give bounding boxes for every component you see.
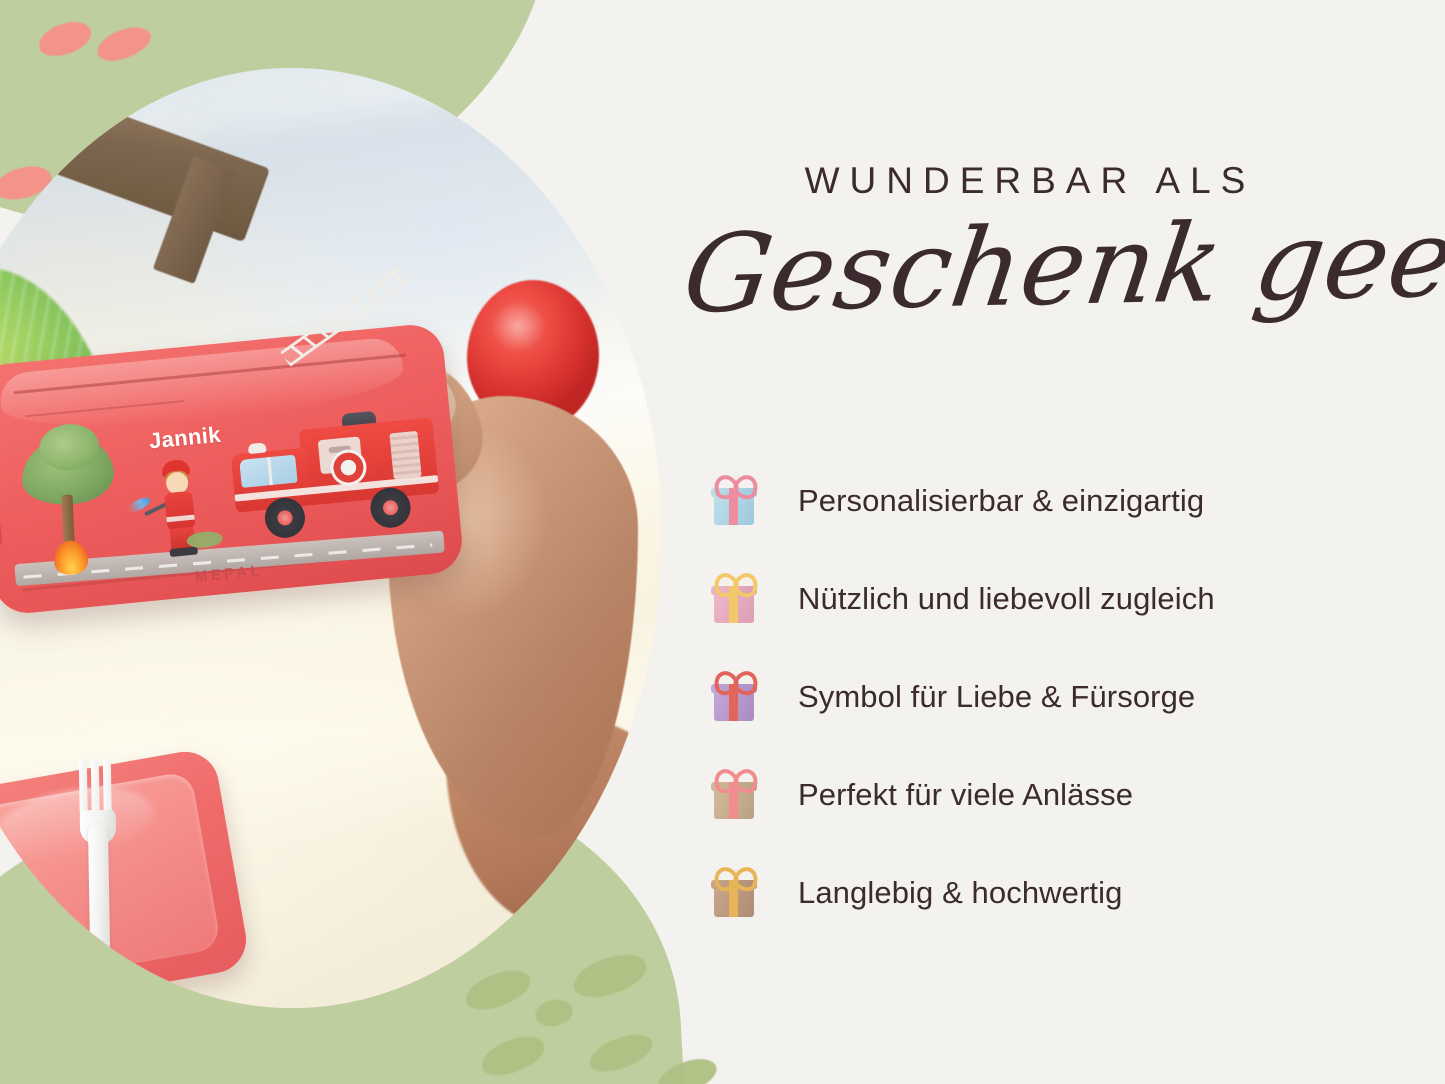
benefit-item: Langlebig & hochwertig — [708, 844, 1408, 942]
gift-icon-pink — [708, 573, 760, 625]
artwork-fire-truck — [217, 380, 443, 552]
gift-icon-purple — [708, 671, 760, 723]
fork-icon — [75, 758, 123, 989]
headline-kicker: WUNDERBAR ALS — [700, 160, 1360, 202]
benefit-item: Personalisierbar & einzigartig — [708, 452, 1408, 550]
benefit-item: Perfekt für viele Anlässe — [708, 746, 1408, 844]
gift-icon-brown — [708, 867, 760, 919]
gift-icon-kraft — [708, 769, 760, 821]
benefit-list: Personalisierbar & einzigartigNützlich u… — [708, 452, 1408, 942]
headline-script: Geschenk geeignet — [676, 198, 1407, 338]
product-photo: Jannik MEPAL — [0, 68, 662, 1008]
benefit-label: Langlebig & hochwertig — [798, 875, 1122, 911]
benefit-label: Personalisierbar & einzigartig — [798, 483, 1204, 519]
benefit-item: Symbol für Liebe & Fürsorge — [708, 648, 1408, 746]
benefit-label: Perfekt für viele Anlässe — [798, 777, 1133, 813]
benefit-label: Nützlich und liebevoll zugleich — [798, 581, 1215, 617]
benefit-label: Symbol für Liebe & Fürsorge — [798, 679, 1195, 715]
benefit-item: Nützlich und liebevoll zugleich — [708, 550, 1408, 648]
content-column: WUNDERBAR ALS Geschenk geeignet Personal… — [700, 0, 1445, 1084]
promo-banner: Jannik MEPAL WUNDERBAR ALS Geschenk geei… — [0, 0, 1445, 1084]
gift-icon-blue — [708, 475, 760, 527]
lunchbox-lid — [0, 746, 251, 1008]
lunchbox: Jannik MEPAL — [0, 322, 465, 616]
